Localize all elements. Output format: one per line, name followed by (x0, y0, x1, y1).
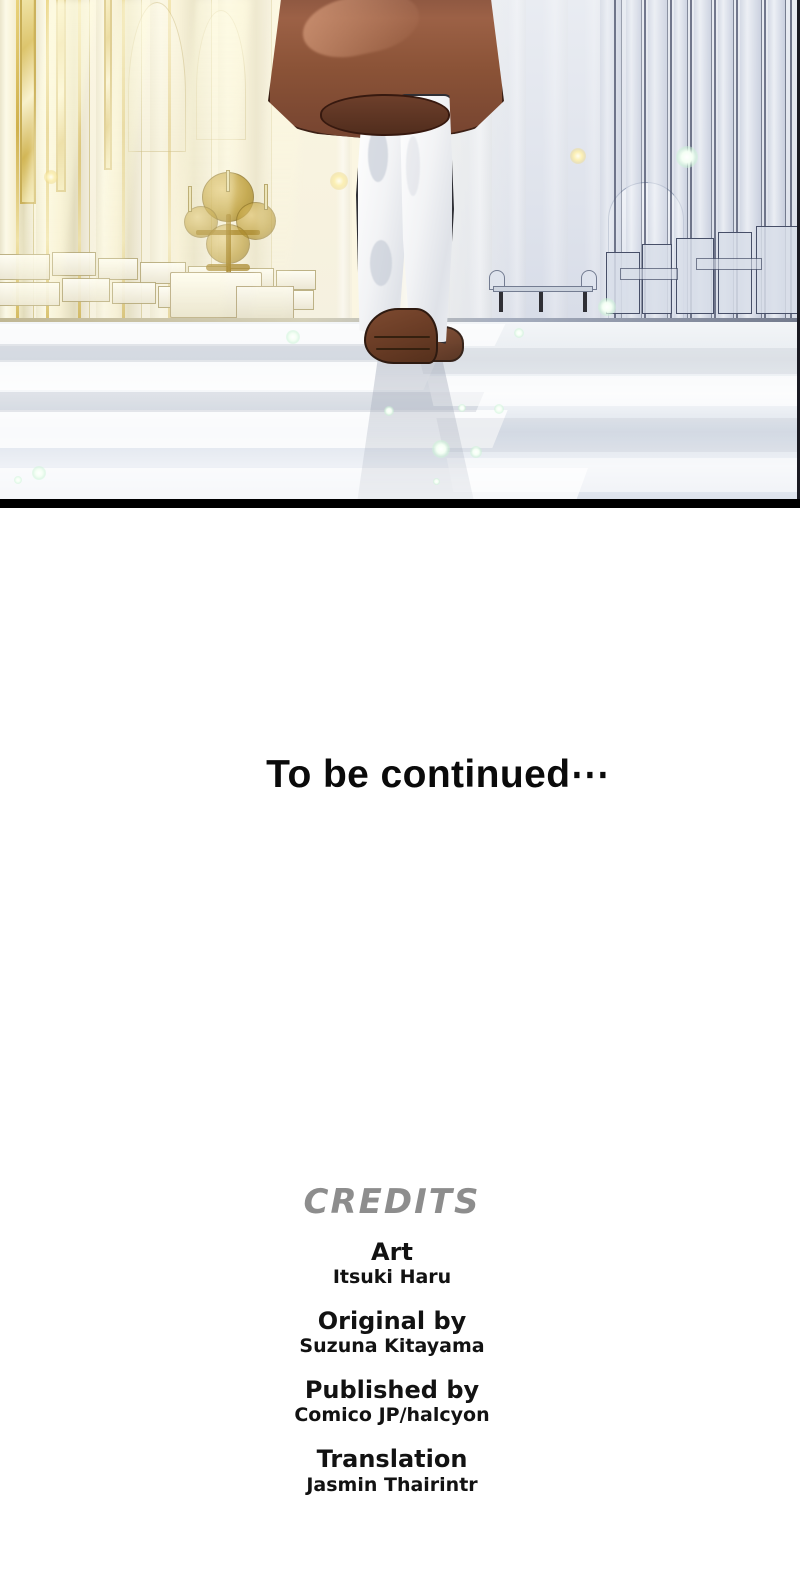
sparkle (32, 466, 46, 480)
credit-entry-published: Published by Comico JP/halcyon (0, 1376, 792, 1428)
stone-columns-right (600, 0, 800, 330)
credit-name: Jasmin Thairintr (0, 1474, 792, 1498)
walking-character (268, 0, 518, 380)
coat-hem-inner (320, 94, 450, 136)
credit-name: Suzuna Kitayama (0, 1335, 792, 1359)
credits-section: CREDITS Art Itsuki Haru Original by Suzu… (0, 1182, 792, 1514)
sparkle (470, 446, 482, 458)
credit-role: Translation (0, 1445, 792, 1473)
sparkle (44, 170, 58, 184)
sparkle (384, 406, 394, 416)
left-shoe (364, 308, 438, 364)
credit-entry-translation: Translation Jasmin Thairintr (0, 1445, 792, 1497)
credit-entry-original: Original by Suzuna Kitayama (0, 1307, 792, 1359)
credits-heading: CREDITS (0, 1182, 792, 1222)
credit-entry-art: Art Itsuki Haru (0, 1238, 792, 1290)
sparkle (432, 440, 450, 458)
sparkle (598, 298, 616, 316)
sparkle (494, 404, 504, 414)
credit-name: Itsuki Haru (0, 1266, 792, 1290)
sparkle (14, 476, 22, 484)
sparkle (458, 404, 466, 412)
sparkle (676, 146, 698, 168)
credit-role: Published by (0, 1376, 792, 1404)
comic-panel (0, 0, 800, 508)
to-be-continued-text: To be continued⋯ (38, 752, 800, 797)
sparkle (433, 478, 440, 485)
sparkle (570, 148, 586, 164)
credit-name: Comico JP/halcyon (0, 1404, 792, 1428)
credit-role: Original by (0, 1307, 792, 1335)
credit-role: Art (0, 1238, 792, 1266)
